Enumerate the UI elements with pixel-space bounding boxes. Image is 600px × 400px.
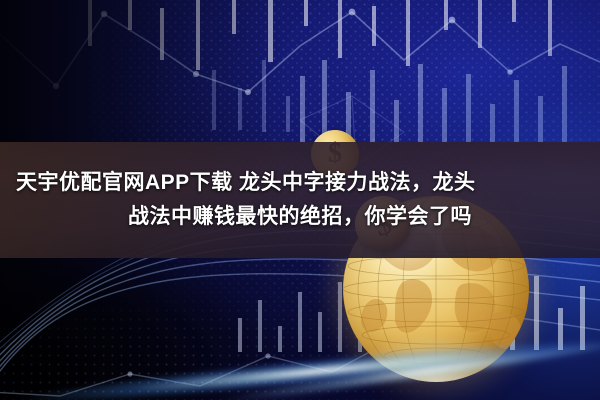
headline-line-2: 战法中赚钱最快的绝招，你学会了吗: [128, 202, 472, 232]
banner-image: $ $ 天宇优配官网APP下载 龙头中字接力战法，龙头 战法中赚钱最快的绝招，你…: [0, 0, 600, 400]
headline-line-1: 天宇优配官网APP下载 龙头中字接力战法，龙头: [16, 168, 476, 198]
headline-block: 天宇优配官网APP下载 龙头中字接力战法，龙头 战法中赚钱最快的绝招，你学会了吗: [0, 142, 600, 258]
